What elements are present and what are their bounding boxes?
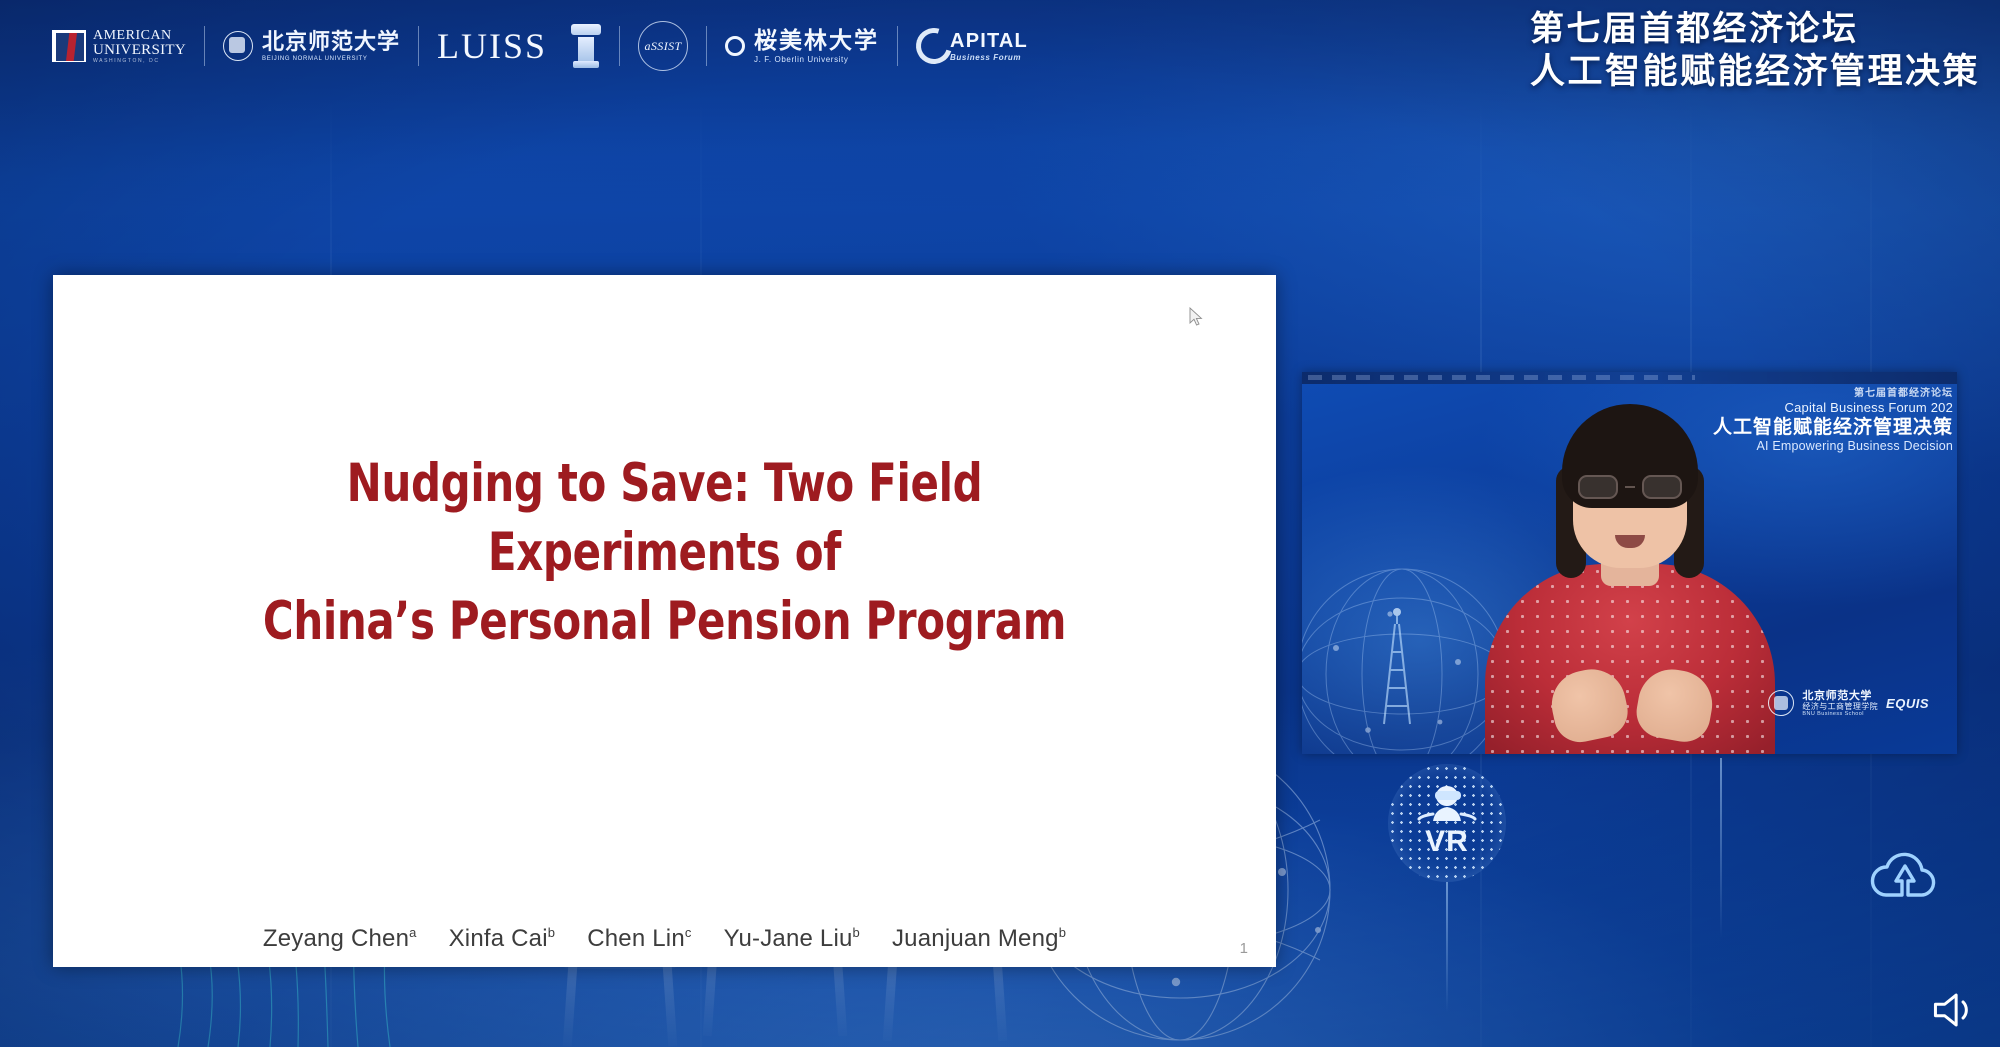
author-entry: Zeyang Chena: [263, 925, 417, 952]
author-name: Juanjuan Meng: [892, 925, 1059, 952]
bnu-seal-icon: [223, 31, 253, 61]
author-affiliation-mark: b: [1059, 925, 1066, 940]
volume-button[interactable]: [1924, 983, 1986, 1037]
icon-drop-line: [1720, 758, 1722, 938]
slide-title-line1: Nudging to Save: Two Field Experiments o…: [197, 450, 1132, 588]
video-backdrop-branding: 第七届首都经济论坛 Capital Business Forum 202 人工智…: [1713, 388, 1953, 454]
forum-title: 第七届首都经济论坛 人工智能赋能经济管理决策: [1530, 8, 1980, 94]
oberlin-name-en: J. F. Oberlin University: [754, 55, 879, 64]
author-name: Yu-Jane Liu: [724, 925, 853, 952]
author-name: Chen Lin: [587, 925, 685, 952]
capital-c-icon: [910, 22, 959, 71]
author-entry: Xinfa Caib: [449, 925, 556, 952]
video-brand-cn-small: 第七届首都经济论坛: [1713, 388, 1953, 400]
oberlin-name-cn: 桜美林大学: [754, 29, 879, 52]
author-name: Xinfa Cai: [449, 925, 548, 952]
forum-title-line1: 第七届首都经济论坛: [1530, 8, 1980, 51]
assist-wordmark: aSSIST: [645, 39, 682, 54]
speaker-video-tile[interactable]: 第七届首都经济论坛 Capital Business Forum 202 人工智…: [1302, 372, 1957, 754]
author-affiliation-mark: b: [853, 925, 860, 940]
bnu-name-en: BEIJING NORMAL UNIVERSITY: [262, 56, 400, 62]
oberlin-ring-icon: [725, 36, 745, 56]
video-school-cn: 北京师范大学: [1802, 689, 1878, 702]
video-school-logo: 北京师范大学 经济与工商管理学院 BNU Business School EQU…: [1768, 689, 1929, 718]
author-entry: Yu-Jane Liub: [724, 925, 860, 952]
logo-divider: [204, 26, 205, 66]
logo-divider: [897, 26, 898, 66]
logo-beijing-normal-university: 北京师范大学 BEIJING NORMAL UNIVERSITY: [223, 31, 400, 62]
au-name-line1: AMERICAN: [93, 29, 186, 43]
slide-page-number: 1: [1240, 940, 1248, 957]
slide-title-line2: China’s Personal Pension Program: [197, 588, 1132, 657]
assist-circle-icon: aSSIST: [638, 21, 688, 71]
icon-drop-line: [1446, 882, 1448, 1012]
equis-accreditation-label: EQUIS: [1886, 696, 1929, 711]
video-school-cn-sub: 经济与工商管理学院: [1802, 702, 1878, 712]
logo-american-university: AMERICAN UNIVERSITY WASHINGTON, DC: [52, 29, 186, 64]
slide-author-list: Zeyang ChenaXinfa CaibChen LincYu-Jane L…: [53, 925, 1276, 953]
author-affiliation-mark: a: [409, 925, 416, 940]
author-affiliation-mark: c: [685, 925, 692, 940]
logo-assist-column: [571, 24, 601, 68]
american-university-shield-icon: [52, 30, 86, 62]
logo-jf-oberlin-university: 桜美林大学 J. F. Oberlin University: [725, 29, 879, 64]
logo-assist: aSSIST: [638, 21, 688, 71]
speaker-icon[interactable]: [1932, 990, 1978, 1030]
bnu-seal-icon: [1768, 690, 1794, 716]
slide-title: Nudging to Save: Two Field Experiments o…: [197, 450, 1132, 657]
luiss-wordmark: LUISS: [437, 28, 547, 64]
author-name: Zeyang Chen: [263, 925, 409, 952]
partner-logo-bar: AMERICAN UNIVERSITY WASHINGTON, DC 北京师范大…: [0, 0, 1028, 92]
screen-share-stage: AMERICAN UNIVERSITY WASHINGTON, DC 北京师范大…: [0, 0, 2000, 1047]
bnu-name-cn: 北京师范大学: [262, 31, 400, 53]
speaker-glasses: [1578, 474, 1682, 500]
video-brand-cn-large: 人工智能赋能经济管理决策: [1713, 416, 1953, 439]
presentation-slide[interactable]: Nudging to Save: Two Field Experiments o…: [53, 275, 1276, 967]
au-name-line3: WASHINGTON, DC: [93, 59, 186, 64]
capital-tagline: Business Forum: [950, 53, 1028, 62]
author-affiliation-mark: b: [548, 925, 555, 940]
logo-divider: [619, 26, 620, 66]
video-brand-en-large: AI Empowering Business Decision: [1713, 439, 1953, 454]
capital-wordmark: APITAL: [950, 31, 1028, 51]
speaker-torso: [1485, 564, 1775, 754]
greek-column-icon: [571, 24, 601, 68]
author-entry: Chen Linc: [587, 925, 691, 952]
forum-title-line2: 人工智能赋能经济管理决策: [1530, 51, 1980, 95]
video-brand-en-small: Capital Business Forum 202: [1713, 400, 1953, 416]
logo-divider: [706, 26, 707, 66]
au-name-line2: UNIVERSITY: [93, 43, 186, 58]
logo-divider: [418, 26, 419, 66]
logo-capital-business-forum: APITAL Business Forum: [916, 28, 1028, 64]
author-entry: Juanjuan Mengb: [892, 925, 1066, 952]
logo-luiss: LUISS: [437, 28, 547, 64]
video-school-en: BNU Business School: [1802, 711, 1878, 718]
